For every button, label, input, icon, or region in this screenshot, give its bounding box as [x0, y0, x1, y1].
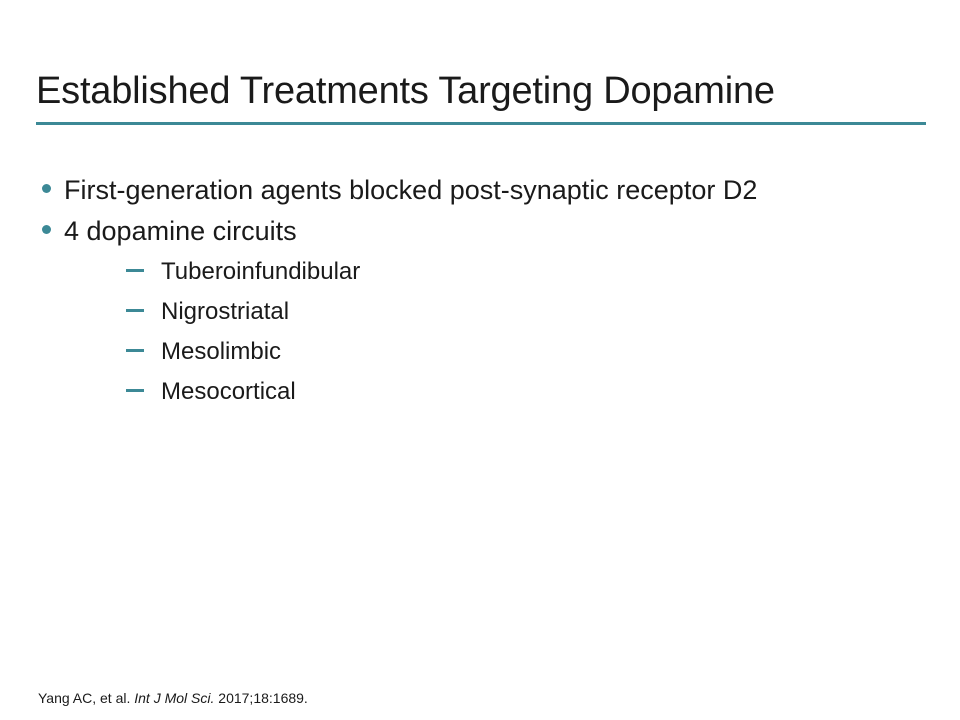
bullet-dot-icon: [42, 225, 51, 234]
dash-icon: [126, 269, 144, 272]
sub-bullet-text: Nigrostriatal: [161, 296, 926, 328]
citation-footnote: Yang AC, et al. Int J Mol Sci. 2017;18:1…: [38, 688, 308, 708]
sub-bullet-item: Mesocortical: [126, 376, 926, 408]
sub-bullet-text: Mesolimbic: [161, 336, 926, 368]
bullet-text: 4 dopamine circuits: [64, 213, 919, 250]
dash-icon: [126, 389, 144, 392]
sub-bullet-text: Tuberoinfundibular: [161, 256, 926, 288]
page-title: Established Treatments Targeting Dopamin…: [36, 68, 926, 114]
slide-body: First-generation agents blocked post-syn…: [36, 172, 926, 416]
title-block: Established Treatments Targeting Dopamin…: [36, 68, 926, 125]
citation-authors: Yang AC, et al.: [38, 690, 134, 706]
sub-bullet-text: Mesocortical: [161, 376, 926, 408]
bullet-text: First-generation agents blocked post-syn…: [64, 172, 919, 209]
sub-bullet-item: Mesolimbic: [126, 336, 926, 368]
sub-bullet-list: Tuberoinfundibular Nigrostriatal Mesolim…: [64, 256, 926, 408]
slide-canvas: Established Treatments Targeting Dopamin…: [0, 0, 960, 720]
sub-bullet-item: Tuberoinfundibular: [126, 256, 926, 288]
dash-icon: [126, 349, 144, 352]
dash-icon: [126, 309, 144, 312]
citation-journal: Int J Mol Sci.: [134, 690, 214, 706]
bullet-item: 4 dopamine circuits Tuberoinfundibular N…: [36, 213, 926, 408]
bullet-dot-icon: [42, 184, 51, 193]
bullet-item: First-generation agents blocked post-syn…: [36, 172, 926, 209]
title-underline-rule: [36, 122, 926, 125]
citation-details: 2017;18:1689.: [214, 690, 307, 706]
sub-bullet-item: Nigrostriatal: [126, 296, 926, 328]
